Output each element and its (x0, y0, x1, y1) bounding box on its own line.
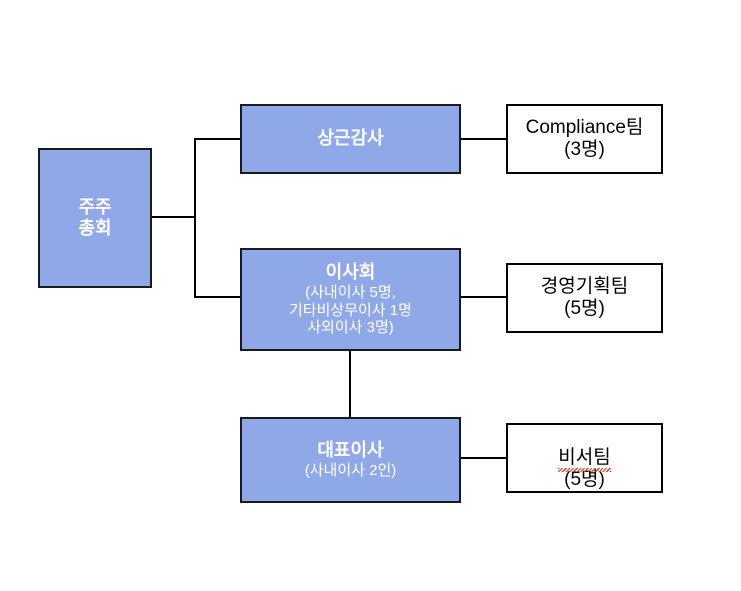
node-shareholders-meeting-title: 주주 총회 (78, 197, 111, 239)
node-standing-auditor-title: 상근감사 (317, 128, 383, 149)
connector-shareholders-stem (150, 216, 196, 218)
node-planning-team-title: 경영기획팀 (541, 276, 628, 298)
node-board-of-directors-title: 이사회 (326, 262, 376, 283)
node-compliance-team[interactable]: Compliance팀 (3명) (506, 104, 663, 174)
connector-ceo-to-secretary (459, 457, 507, 459)
connector-auditor-to-compliance (459, 138, 507, 140)
node-planning-team-headcount: (5명) (564, 298, 605, 320)
connector-to-standing-auditor (194, 138, 242, 140)
node-secretary-team[interactable]: 비서팀 (5명) (506, 423, 663, 493)
connector-to-board (194, 296, 242, 298)
node-shareholders-meeting[interactable]: 주주 총회 (38, 148, 152, 288)
connector-board-to-ceo (349, 350, 351, 418)
node-planning-team[interactable]: 경영기획팀 (5명) (506, 263, 663, 333)
connector-vertical-trunk (194, 138, 196, 298)
node-board-of-directors-detail: (사내이사 5명, 기타비상무이사 1명 사외이사 3명) (289, 284, 412, 337)
connector-board-to-planning (459, 296, 507, 298)
org-chart-canvas: 주주 총회 상근감사 이사회 (사내이사 5명, 기타비상무이사 1명 사외이사… (0, 0, 741, 591)
node-ceo-detail: (사내이사 2인) (305, 462, 397, 480)
node-secretary-team-headcount: (5명) (564, 469, 605, 491)
node-standing-auditor[interactable]: 상근감사 (240, 104, 461, 174)
node-ceo[interactable]: 대표이사 (사내이사 2인) (240, 417, 461, 503)
node-secretary-team-title: 비서팀 (558, 424, 610, 469)
node-compliance-team-title: Compliance팀 (526, 117, 644, 139)
node-compliance-team-headcount: (3명) (564, 139, 605, 161)
node-board-of-directors[interactable]: 이사회 (사내이사 5명, 기타비상무이사 1명 사외이사 3명) (240, 248, 461, 351)
node-ceo-title: 대표이사 (317, 440, 383, 461)
spellcheck-underline-text: 비서팀 (558, 447, 610, 469)
